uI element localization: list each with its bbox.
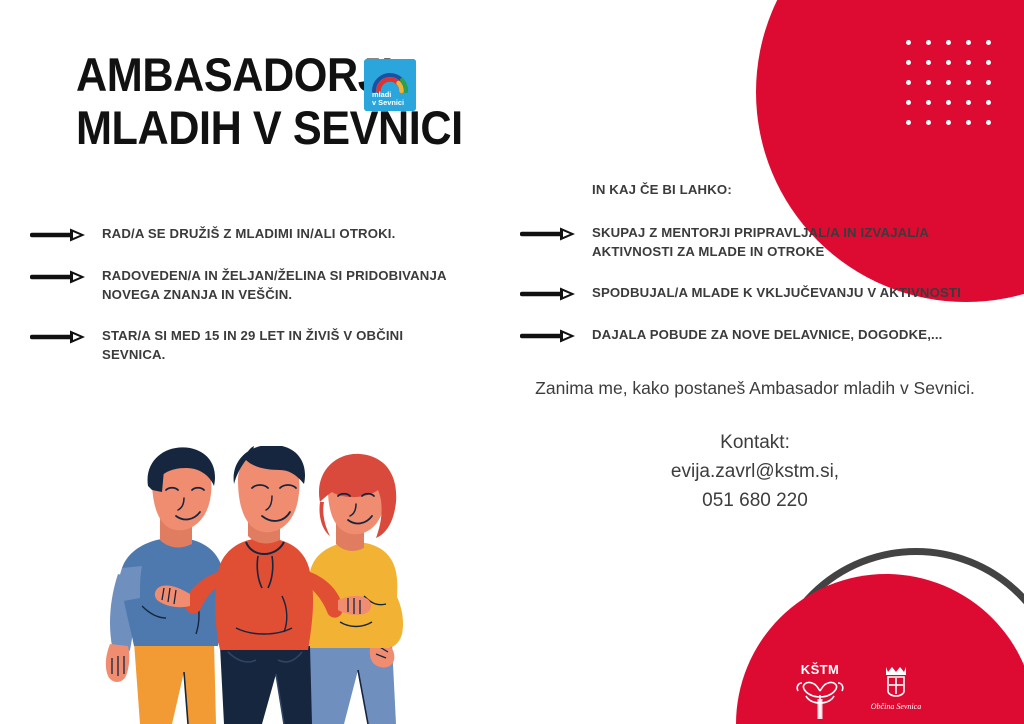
list-item: RAD/A SE DRUŽIŠ Z MLADIMI IN/ALI OTROKI. xyxy=(30,224,470,244)
grid-dot xyxy=(906,40,911,45)
grid-dot xyxy=(966,100,971,105)
lead-text: Zanima me, kako postaneš Ambasador mladi… xyxy=(500,376,1010,400)
contact-label: Kontakt: xyxy=(560,428,950,457)
list-item-label: STAR/A SI MED 15 IN 29 LET IN ŽIVIŠ V OB… xyxy=(102,326,470,364)
headline-line-1: AMBASADORJI xyxy=(76,48,518,101)
grid-dot xyxy=(926,60,931,65)
headline-line-2: MLADIH V SEVNICI xyxy=(76,101,518,154)
footer-logos: KŠTM xyxy=(790,663,930,721)
requirements-list: RAD/A SE DRUŽIŠ Z MLADIMI IN/ALI OTROKI.… xyxy=(30,224,470,386)
obcina-sevnica-logo: Občina Sevnica xyxy=(864,663,928,711)
grid-dot xyxy=(986,100,991,105)
white-dot-grid xyxy=(898,32,998,132)
mladi-v-sevnici-logo: mladi v Sevnici xyxy=(364,59,416,111)
grid-dot xyxy=(966,60,971,65)
contact-email[interactable]: evija.zavrl@kstm.si, xyxy=(560,457,950,486)
arrow-right-icon xyxy=(30,328,90,346)
arrow-right-icon xyxy=(30,226,90,244)
grid-dot xyxy=(926,80,931,85)
list-item-label: RADOVEDEN/A IN ŽELJAN/ŽELINA SI PRIDOBIV… xyxy=(102,266,470,304)
grid-dot xyxy=(946,80,951,85)
kstm-logo: KŠTM xyxy=(790,663,850,724)
kstm-tree-icon xyxy=(790,677,850,719)
grid-dot xyxy=(946,40,951,45)
list-item-label: SKUPAJ Z MENTORJI PRIPRAVLJAL/A IN IZVAJ… xyxy=(592,223,990,261)
three-friends-illustration xyxy=(96,446,432,724)
grid-dot xyxy=(986,60,991,65)
activities-section-label: IN KAJ ČE BI LAHKO: xyxy=(592,180,990,199)
grid-dot xyxy=(906,100,911,105)
grid-dot xyxy=(986,80,991,85)
activities-list: IN KAJ ČE BI LAHKO: SKUPAJ Z MENTORJI PR… xyxy=(520,180,990,367)
grid-dot xyxy=(966,120,971,125)
grid-dot xyxy=(966,40,971,45)
arrow-right-icon xyxy=(520,327,580,345)
list-item-label: SPODBUJAL/A MLADE K VKLJUČEVANJU V AKTIV… xyxy=(592,283,961,302)
grid-dot xyxy=(906,60,911,65)
logo-text-line-2: v Sevnici xyxy=(372,98,404,107)
list-item: DAJALA POBUDE ZA NOVE DELAVNICE, DOGODKE… xyxy=(520,325,990,345)
list-item: SPODBUJAL/A MLADE K VKLJUČEVANJU V AKTIV… xyxy=(520,283,990,303)
contact-block: Kontakt: evija.zavrl@kstm.si, 051 680 22… xyxy=(560,428,950,515)
grid-dot xyxy=(986,40,991,45)
grid-dot xyxy=(966,80,971,85)
kstm-logo-label: KŠTM xyxy=(790,663,850,677)
poster-canvas: AMBASADORJI MLADIH V SEVNICI mladi v Sev… xyxy=(0,0,1024,724)
arrow-right-icon xyxy=(520,225,580,243)
contact-phone[interactable]: 051 680 220 xyxy=(560,486,950,515)
grid-dot xyxy=(946,120,951,125)
grid-dot xyxy=(906,80,911,85)
list-item: SKUPAJ Z MENTORJI PRIPRAVLJAL/A IN IZVAJ… xyxy=(520,223,990,261)
grid-dot xyxy=(926,40,931,45)
list-item: STAR/A SI MED 15 IN 29 LET IN ŽIVIŠ V OB… xyxy=(30,326,470,364)
list-item-label: DAJALA POBUDE ZA NOVE DELAVNICE, DOGODKE… xyxy=(592,325,942,344)
grid-dot xyxy=(926,120,931,125)
grid-dot xyxy=(946,100,951,105)
grid-dot xyxy=(926,100,931,105)
grid-dot xyxy=(986,120,991,125)
grid-dot xyxy=(946,60,951,65)
arrow-right-icon xyxy=(30,268,90,286)
list-item-label: RAD/A SE DRUŽIŠ Z MLADIMI IN/ALI OTROKI. xyxy=(102,224,395,243)
obcina-logo-label: Občina Sevnica xyxy=(864,702,928,711)
arrow-right-icon xyxy=(520,285,580,303)
list-item: RADOVEDEN/A IN ŽELJAN/ŽELINA SI PRIDOBIV… xyxy=(30,266,470,304)
page-title: AMBASADORJI MLADIH V SEVNICI xyxy=(76,48,556,154)
grid-dot xyxy=(906,120,911,125)
castle-crest-icon xyxy=(864,663,928,697)
